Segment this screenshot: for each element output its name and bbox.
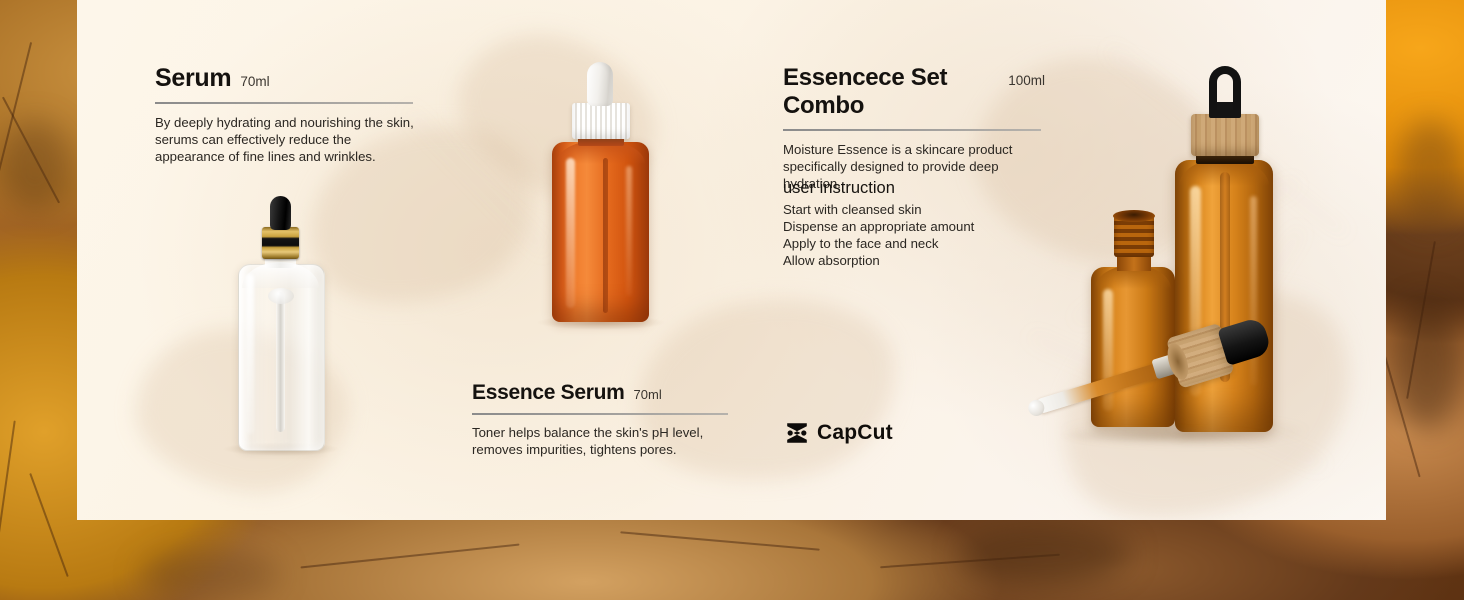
glass-highlight <box>246 274 254 434</box>
serum-volume: 70ml <box>240 74 269 89</box>
product-block-essence-serum: Essence Serum 70ml Toner helps balance t… <box>472 381 730 458</box>
product-image-amber-orange-bottle <box>548 62 652 326</box>
serum-description: By deeply hydrating and nourishing the s… <box>155 114 417 165</box>
combo-title: Essencece Set Combo <box>783 64 999 120</box>
glass-pipette <box>1034 362 1165 415</box>
combo-title-row: Essencece Set Combo 100ml <box>783 64 1045 120</box>
instruction-heading: user instruction <box>783 179 1053 198</box>
dropper-bulb <box>270 196 291 230</box>
essence-description: Toner helps balance the skin's pH level,… <box>472 424 730 458</box>
glass-highlight <box>626 166 632 296</box>
product-image-clear-glass-bottle <box>232 196 328 452</box>
capcut-wordmark: CapCut <box>817 421 893 445</box>
pipette <box>276 292 285 432</box>
essence-divider <box>472 413 728 415</box>
bamboo-wood-cap <box>1191 114 1259 156</box>
essence-title-row: Essence Serum 70ml <box>472 381 730 405</box>
serum-title-row: Serum 70ml <box>155 64 417 93</box>
instruction-step: Start with cleansed skin <box>783 201 1053 218</box>
white-ribbed-cap <box>572 103 630 139</box>
combo-volume: 100ml <box>1008 73 1045 88</box>
product-block-serum: Serum 70ml By deeply hydrating and nouri… <box>155 64 417 165</box>
instruction-step: Allow absorption <box>783 252 1053 269</box>
serum-divider <box>155 102 413 104</box>
essence-title: Essence Serum <box>472 381 625 405</box>
serum-title: Serum <box>155 64 231 93</box>
combo-divider <box>783 129 1041 131</box>
bottle-neck <box>1117 255 1151 271</box>
instruction-step: Dispense an appropriate amount <box>783 218 1053 235</box>
glass-highlight <box>566 158 575 308</box>
essence-volume: 70ml <box>634 387 662 402</box>
dropper-shadow <box>1060 428 1270 444</box>
black-loop-bulb <box>1209 66 1241 110</box>
product-block-combo: Essencece Set Combo 100ml Moisture Essen… <box>783 64 1045 192</box>
pipette <box>603 158 608 313</box>
dropper-bulb <box>587 62 613 106</box>
user-instruction-block: user instruction Start with cleansed ski… <box>783 179 1053 270</box>
capcut-logo: CapCut <box>785 421 893 445</box>
pipette-top <box>268 288 294 304</box>
banner-stage: Serum 70ml By deeply hydrating and nouri… <box>0 0 1464 600</box>
capcut-bowtie-icon <box>785 422 809 444</box>
bottle-mouth <box>1113 210 1155 222</box>
gold-black-collar <box>262 227 299 259</box>
instruction-step: Apply to the face and neck <box>783 235 1053 252</box>
product-image-detached-dropper <box>1036 362 1286 452</box>
